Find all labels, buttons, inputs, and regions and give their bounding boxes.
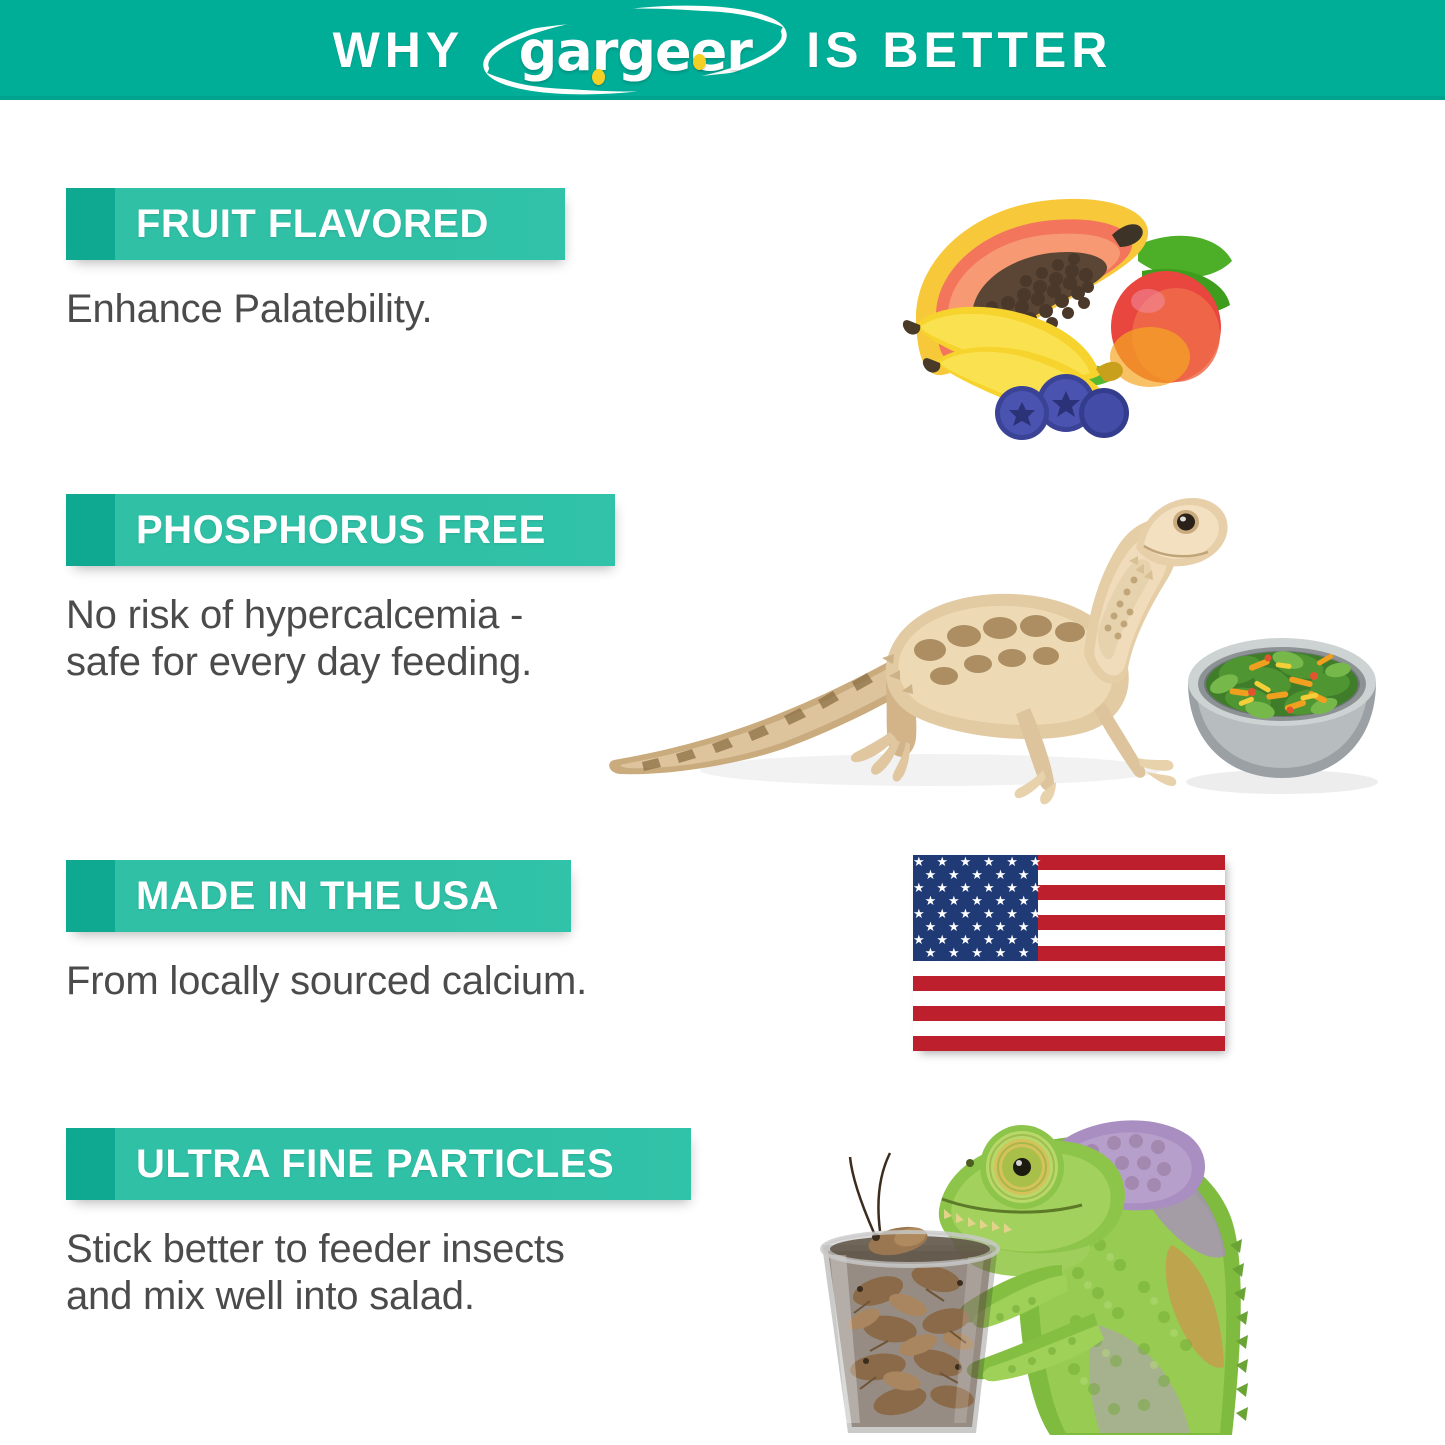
flag-star-icon: ★ — [1018, 920, 1030, 933]
flag-star-icon: ★ — [960, 907, 972, 920]
feature-description: No risk of hypercalcemia - safe for ever… — [66, 592, 615, 686]
flag-star-icon: ★ — [936, 959, 948, 972]
feature-description: Enhance Palatebility. — [66, 286, 565, 333]
feature-block-phosphorus-free: PHOSPHORUS FREE No risk of hypercalcemia… — [66, 494, 615, 686]
flag-graphic: ★★ ★★ ★★ ★★ ★★ ★ ★★ ★★ ★★ ★★ ★★ ★ ★★ ★★ … — [913, 855, 1225, 1051]
feature-title-banner: ULTRA FINE PARTICLES — [66, 1128, 691, 1200]
flag-star-icon: ★ — [983, 907, 995, 920]
flag-star-icon: ★ — [925, 920, 937, 933]
flag-star-icon: ★ — [913, 933, 925, 946]
feature-block-made-in-the-usa: MADE IN THE USA From locally sourced cal… — [66, 860, 587, 1005]
feature-title-banner: MADE IN THE USA — [66, 860, 571, 932]
feature-title-banner: FRUIT FLAVORED — [66, 188, 565, 260]
flag-star-icon: ★ — [913, 881, 925, 894]
feature-title: FRUIT FLAVORED — [136, 202, 489, 247]
feature-title: PHOSPHORUS FREE — [136, 508, 546, 553]
flag-star-icon: ★ — [971, 868, 983, 881]
flag-star-icon: ★ — [1030, 907, 1042, 920]
flag-star-icon: ★ — [983, 959, 995, 972]
flag-star-icon: ★ — [1030, 959, 1042, 972]
flag-star-icon: ★ — [995, 894, 1007, 907]
feature-title: ULTRA FINE PARTICLES — [136, 1142, 614, 1187]
flag-star-icon: ★ — [1030, 881, 1042, 894]
flag-star-icon: ★ — [1006, 933, 1018, 946]
flag-star-icon: ★ — [971, 946, 983, 959]
flag-star-icon: ★ — [1018, 894, 1030, 907]
flag-star-icon: ★ — [936, 881, 948, 894]
flag-star-icon: ★ — [1030, 855, 1042, 868]
flag-star-icon: ★ — [971, 920, 983, 933]
flag-star-icon: ★ — [983, 881, 995, 894]
feature-block-ultra-fine-particles: ULTRA FINE PARTICLES Stick better to fee… — [66, 1128, 691, 1320]
flag-star-icon: ★ — [1006, 907, 1018, 920]
flag-star-icon: ★ — [1006, 881, 1018, 894]
feature-description: From locally sourced calcium. — [66, 958, 587, 1005]
header-word-is-better: IS BETTER — [806, 25, 1112, 75]
feature-title-banner: PHOSPHORUS FREE — [66, 494, 615, 566]
flag-star-icon: ★ — [960, 855, 972, 868]
flag-star-icon: ★ — [913, 907, 925, 920]
flag-star-icon: ★ — [960, 959, 972, 972]
flag-star-icon: ★ — [1018, 946, 1030, 959]
flag-canton: ★★ ★★ ★★ ★★ ★★ ★ ★★ ★★ ★★ ★★ ★★ ★ ★★ ★★ … — [913, 855, 1038, 961]
flag-star-icon: ★ — [913, 855, 925, 868]
flag-star-icon: ★ — [960, 881, 972, 894]
flag-star-icon: ★ — [983, 855, 995, 868]
header-word-why: WHY — [333, 25, 465, 75]
flag-star-icon: ★ — [925, 894, 937, 907]
flag-star-icon: ★ — [913, 959, 925, 972]
flag-star-icon: ★ — [936, 933, 948, 946]
flag-star-icon: ★ — [971, 894, 983, 907]
flag-star-icon: ★ — [983, 933, 995, 946]
feature-description: Stick better to feeder insects and mix w… — [66, 1226, 691, 1320]
flag-star-icon: ★ — [936, 907, 948, 920]
bearded-dragon-with-salad-bowl-image — [600, 470, 1410, 810]
flag-star-icon: ★ — [948, 868, 960, 881]
page-header: WHY gargeer IS BETTER — [0, 0, 1445, 100]
fruit-assortment-image — [880, 175, 1250, 435]
feature-block-fruit-flavored: FRUIT FLAVORED Enhance Palatebility. — [66, 188, 565, 333]
flag-star-icon: ★ — [936, 855, 948, 868]
flag-star-icon: ★ — [948, 946, 960, 959]
flag-star-icon: ★ — [960, 933, 972, 946]
flag-star-icon: ★ — [925, 868, 937, 881]
flag-star-icon: ★ — [948, 920, 960, 933]
flag-star-icon: ★ — [948, 894, 960, 907]
flag-star-icon: ★ — [995, 920, 1007, 933]
brand-logo-text: gargeer — [519, 25, 752, 79]
flag-star-icon: ★ — [1018, 868, 1030, 881]
chameleon-with-cricket-cup-image — [800, 1105, 1240, 1445]
flag-star-icon: ★ — [925, 946, 937, 959]
flag-star-icon: ★ — [1006, 855, 1018, 868]
flag-star-icon: ★ — [995, 868, 1007, 881]
flag-star-icon: ★ — [1006, 959, 1018, 972]
feature-title: MADE IN THE USA — [136, 874, 499, 919]
brand-logo: gargeer — [480, 7, 790, 93]
flag-star-icon: ★ — [995, 946, 1007, 959]
header-title-row: WHY gargeer IS BETTER — [333, 7, 1113, 93]
usa-flag-image: ★★ ★★ ★★ ★★ ★★ ★ ★★ ★★ ★★ ★★ ★★ ★ ★★ ★★ … — [913, 855, 1225, 1051]
flag-star-icon: ★ — [1030, 933, 1042, 946]
